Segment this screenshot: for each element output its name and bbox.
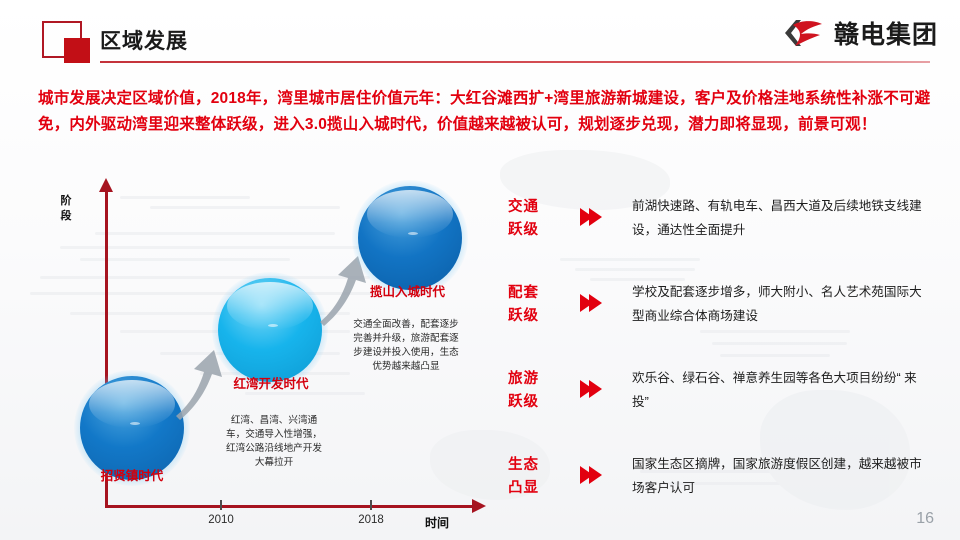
stage-bubble-1[interactable] (80, 376, 184, 480)
header-square-filled-icon (64, 38, 90, 63)
list-item-title-1-line1: 交通 (508, 196, 570, 219)
slide-header: 区域发展 赣电集团 (0, 0, 960, 78)
x-tick-label-2010: 2010 (208, 514, 234, 526)
y-axis-arrowhead-icon (99, 178, 113, 192)
bubble-highlight-2 (227, 282, 312, 330)
bubble-body-2 (218, 278, 322, 382)
x-axis-arrowhead-icon (472, 499, 486, 513)
list-item-text-1: 前湖快速路、有轨电车、昌西大道及后续地铁支线建设，通达性全面提升 (632, 194, 932, 242)
list-item-title-2-line2: 跃级 (508, 305, 570, 328)
page-title: 区域发展 (100, 25, 188, 55)
x-tick-label-2018: 2018 (358, 514, 384, 526)
list-item-title-2-line1: 配套 (508, 282, 570, 305)
list-item[interactable]: 生态 凸显 国家生态区摘牌，国家旅游度假区创建，越来越被市场客户认可 (498, 448, 946, 534)
stage-timeline-chart: 阶段 时间 2010 2018 招贤镇时代 红湾开发时代 (40, 178, 480, 526)
list-item[interactable]: 配套 跃级 学校及配套逐步增多，师大附小、名人艺术苑国际大型商业综合体商场建设 (498, 276, 946, 362)
slide-canvas: 区域发展 赣电集团 城市发展决定区域价值，2018年，湾里城市居住价值元年：大红… (0, 0, 960, 540)
logo-text: 赣电集团 (834, 15, 938, 51)
x-tick-2018 (370, 500, 372, 510)
bubble-specular-1 (130, 422, 140, 425)
list-item-text-4: 国家生态区摘牌，国家旅游度假区创建，越来越被市场客户认可 (632, 452, 932, 500)
stage-bubble-3[interactable] (358, 186, 462, 290)
header-divider (100, 61, 930, 63)
page-number: 16 (916, 510, 934, 528)
bubble-body-1 (80, 376, 184, 480)
y-axis-label: 阶段 (57, 194, 75, 224)
bubble-highlight-3 (367, 190, 452, 238)
bubble-body-3 (358, 186, 462, 290)
x-tick-2010 (220, 500, 222, 510)
list-item-text-2: 学校及配套逐步增多，师大附小、名人艺术苑国际大型商业综合体商场建设 (632, 280, 932, 328)
list-item-text-3: 欢乐谷、绿石谷、禅意养生园等各色大项目纷纷“ 来投” (632, 366, 932, 414)
list-item-title-3: 旅游 跃级 (508, 368, 570, 414)
list-item[interactable]: 旅游 跃级 欢乐谷、绿石谷、禅意养生园等各色大项目纷纷“ 来投” (498, 362, 946, 448)
x-axis-line (105, 505, 477, 508)
stage-label-1: 招贤镇时代 (76, 468, 188, 485)
company-logo: 赣电集团 (781, 12, 938, 54)
list-item-title-4-line1: 生态 (508, 454, 570, 477)
bubble-specular-2 (268, 324, 278, 327)
bubble-specular-3 (408, 232, 418, 235)
list-item-title-4: 生态 凸显 (508, 454, 570, 500)
list-item-title-3-line2: 跃级 (508, 391, 570, 414)
list-item[interactable]: 交通 跃级 前湖快速路、有轨电车、昌西大道及后续地铁支线建设，通达性全面提升 (498, 190, 946, 276)
benefits-list: 交通 跃级 前湖快速路、有轨电车、昌西大道及后续地铁支线建设，通达性全面提升 配… (498, 190, 946, 534)
list-item-title-1: 交通 跃级 (508, 196, 570, 242)
stage-description-2: 交通全面改善，配套逐步完善并升级，旅游配套逐步建设并投入使用，生态优势越来越凸显 (352, 318, 460, 374)
headline-text: 城市发展决定区域价值，2018年，湾里城市居住价值元年：大红谷滩西扩+湾里旅游新… (38, 86, 934, 138)
stage-description-1: 红湾、昌湾、兴湾通车，交通导入性增强，红湾公路沿线地产开发大幕拉开 (222, 414, 326, 470)
list-item-title-3-line1: 旅游 (508, 368, 570, 391)
list-item-title-4-line2: 凸显 (508, 477, 570, 500)
stage-label-2: 红湾开发时代 (228, 376, 314, 393)
list-item-title-1-line2: 跃级 (508, 219, 570, 242)
swoosh-logo-icon (781, 16, 827, 50)
stage-bubble-2[interactable] (218, 278, 322, 382)
stage-label-3: 揽山入城时代 (370, 284, 480, 301)
bubble-highlight-1 (89, 380, 174, 428)
list-item-title-2: 配套 跃级 (508, 282, 570, 328)
x-axis-label: 时间 (425, 514, 449, 531)
